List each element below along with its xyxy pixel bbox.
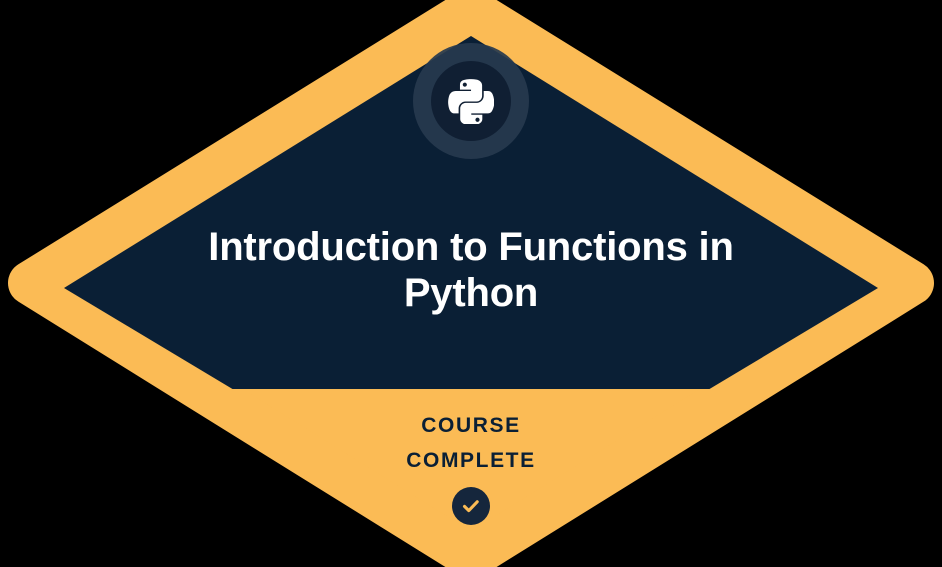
status-label-line-2: COMPLETE — [261, 443, 681, 478]
badge-title: Introduction to Functions in Python — [191, 224, 751, 316]
python-logo-icon — [448, 78, 494, 124]
badge-title-line-1: Introduction to Functions in — [208, 225, 733, 269]
status-label-line-1: COURSE — [261, 408, 681, 443]
badge-title-line-2: Python — [404, 271, 538, 315]
check-circle-icon — [452, 487, 490, 525]
badge-footer: COURSE COMPLETE — [261, 408, 681, 525]
badge-canvas: Introduction to Functions in Python COUR… — [0, 0, 942, 567]
logo-medallion — [413, 43, 529, 159]
